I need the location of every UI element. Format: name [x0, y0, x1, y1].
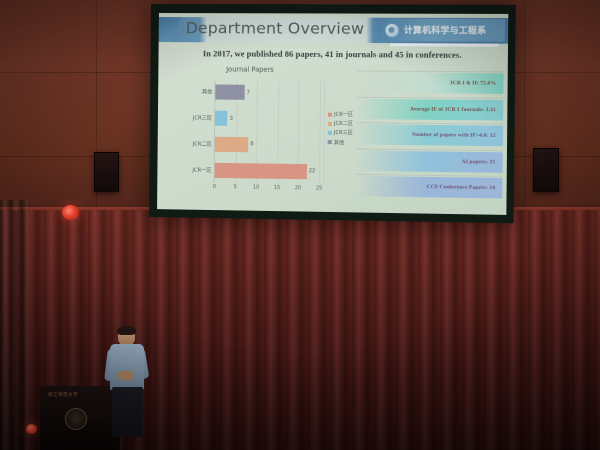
department-logo: 计算机科学与工程系: [378, 19, 505, 42]
statistic-callout: Average IF of JCR I Journals: 3.31: [357, 98, 504, 120]
chart-bar: [215, 111, 228, 126]
wall-speaker-left: [94, 152, 119, 192]
x-axis-tick-label: 5: [234, 184, 237, 190]
statistic-callout: AI papers: 15: [356, 150, 503, 172]
x-axis-tick-label: 25: [316, 185, 323, 191]
x-axis-tick-label: 20: [295, 185, 302, 191]
statistic-callout: Number of papers with IF>4.0: 12: [356, 124, 503, 146]
presentation-slide: Department Overview 计算机科学与工程系 In 2017, w…: [157, 13, 508, 215]
legend-swatch: [328, 131, 332, 135]
chart-legend: JCR一区JCR二区JCR三区其他: [328, 111, 353, 149]
chart-bar-value: 7: [246, 90, 249, 96]
chart-bar-row: JCR一区22: [215, 162, 319, 179]
chart-bar-row: JCR三区3: [215, 111, 319, 127]
chart-bar-row: 其他7: [215, 85, 319, 101]
statistic-callout: JCR I & II: 75.6%: [357, 72, 504, 93]
chart-gridline: [319, 80, 321, 184]
auditorium-scene: Department Overview 计算机科学与工程系 In 2017, w…: [0, 0, 600, 450]
university-crest-icon: [65, 408, 87, 430]
x-axis-tick-label: 0: [213, 184, 216, 190]
chart-title: Journal Papers: [174, 65, 326, 74]
chart-bar-value: 8: [250, 142, 253, 148]
department-logo-label: 计算机科学与工程系: [404, 24, 487, 37]
red-indicator-light: [62, 205, 79, 220]
chart-plot-area: 0510152025其他7JCR三区3JCR二区8JCR一区22: [214, 79, 320, 184]
y-axis-category-label: JCR二区: [172, 140, 212, 148]
statistics-callouts: JCR I & II: 75.6%Average IF of JCR I Jou…: [356, 70, 505, 202]
chart-legend-item: JCR三区: [328, 129, 353, 136]
lectern-label: 浙江师范大学: [48, 392, 78, 398]
chart-bar: [215, 162, 307, 178]
y-axis-category-label: 其他: [172, 89, 212, 96]
presenter-hair: [117, 326, 136, 335]
legend-label: 其他: [334, 139, 344, 146]
slide-subtitle: In 2017, we published 86 papers, 41 in j…: [158, 49, 507, 60]
legend-label: JCR一区: [334, 111, 353, 118]
legend-swatch: [328, 140, 332, 144]
chart-legend-item: JCR一区: [328, 111, 353, 118]
chart-bar-row: JCR二区8: [215, 137, 319, 153]
x-axis-tick-label: 15: [274, 185, 281, 191]
presenter-torso: [110, 344, 144, 390]
legend-label: JCR三区: [334, 129, 353, 136]
slide-title: Department Overview: [186, 19, 365, 38]
y-axis-category-label: JCR三区: [172, 114, 212, 121]
chart-divider: [323, 82, 325, 183]
chart-bar-value: 22: [309, 168, 316, 174]
presenter: [106, 327, 150, 437]
legend-label: JCR二区: [334, 120, 353, 127]
red-indicator-light: [26, 424, 37, 434]
wall-speaker-right: [533, 148, 559, 192]
presenter-legs: [112, 387, 143, 437]
legend-swatch: [328, 122, 332, 126]
presenter-hands: [118, 371, 134, 380]
legend-swatch: [328, 112, 332, 116]
chart-legend-item: JCR二区: [328, 120, 353, 127]
wall-seam-vertical: [524, 0, 525, 218]
x-axis-tick-label: 10: [253, 185, 260, 191]
slide-header: Department Overview 计算机科学与工程系: [159, 17, 509, 46]
journal-papers-chart: Journal Papers 0510152025其他7JCR三区3JCR二区8…: [173, 65, 357, 200]
y-axis-category-label: JCR一区: [171, 166, 211, 174]
header-underline: [390, 43, 498, 46]
chart-bar: [215, 85, 244, 100]
university-seal-icon: [385, 23, 399, 36]
chart-bar-value: 3: [230, 115, 233, 121]
projection-screen: Department Overview 计算机科学与工程系 In 2017, w…: [149, 4, 516, 223]
chart-bar: [215, 137, 248, 152]
statistic-callout: CCF Conference Papers: 14: [356, 176, 503, 199]
stage-curtain-left: [0, 200, 30, 450]
chart-legend-item: 其他: [328, 139, 353, 146]
